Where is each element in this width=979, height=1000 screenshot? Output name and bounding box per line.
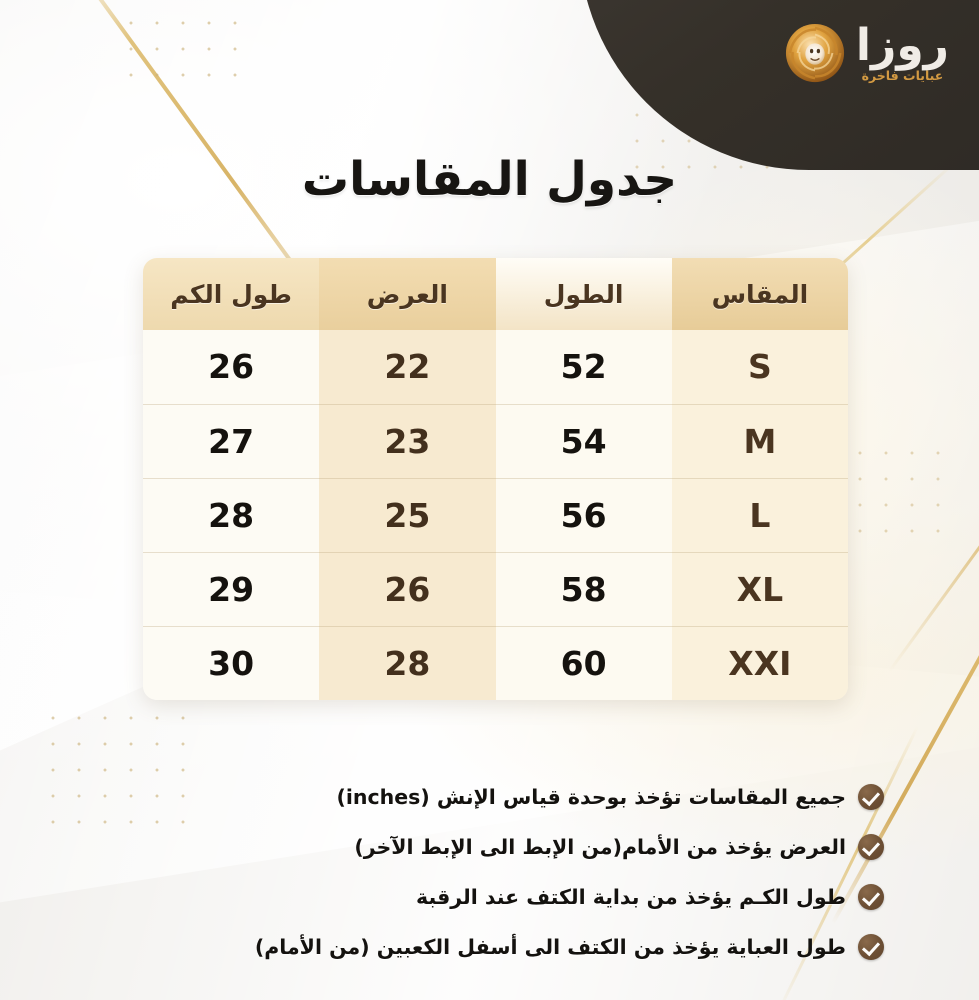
page-title: جدول المقاسات bbox=[0, 152, 979, 207]
size-table-body: S 52 22 26 M 54 23 27 L 56 25 28 bbox=[143, 330, 848, 700]
table-row: S 52 22 26 bbox=[143, 330, 848, 404]
note-text: العرض يؤخذ من الأمام(من الإبط الى الإبط … bbox=[354, 835, 846, 859]
note-item: طول الكـم يؤخذ من بداية الكتف عند الرقبة bbox=[60, 872, 884, 922]
check-circle-icon bbox=[858, 934, 884, 960]
cell-sleeve: 28 bbox=[143, 478, 319, 552]
check-circle-icon bbox=[858, 784, 884, 810]
note-text: طول الكـم يؤخذ من بداية الكتف عند الرقبة bbox=[416, 885, 846, 909]
cell-width: 26 bbox=[319, 552, 495, 626]
measurement-notes-list: جميع المقاسات تؤخذ بوحدة قياس الإنش (inc… bbox=[60, 772, 884, 972]
cell-size: XXI bbox=[672, 626, 848, 700]
brand-logo: روزا عبايات فاخرة bbox=[784, 22, 949, 84]
column-header-width: العرض bbox=[319, 258, 495, 330]
dot-grid-right bbox=[847, 440, 957, 536]
cell-width: 28 bbox=[319, 626, 495, 700]
note-item: العرض يؤخذ من الأمام(من الإبط الى الإبط … bbox=[60, 822, 884, 872]
brand-tagline: عبايات فاخرة bbox=[856, 70, 949, 83]
cell-length: 58 bbox=[496, 552, 672, 626]
check-circle-icon bbox=[858, 884, 884, 910]
cell-length: 52 bbox=[496, 330, 672, 404]
brand-logo-text: روزا عبايات فاخرة bbox=[856, 24, 949, 83]
rose-swirl-icon bbox=[784, 22, 846, 84]
size-table-card: المقاس الطول العرض طول الكم S 52 22 26 M… bbox=[143, 258, 848, 700]
size-table: المقاس الطول العرض طول الكم S 52 22 26 M… bbox=[143, 258, 848, 700]
cell-sleeve: 27 bbox=[143, 404, 319, 478]
column-header-size: المقاس bbox=[672, 258, 848, 330]
table-row: M 54 23 27 bbox=[143, 404, 848, 478]
note-item: طول العباية يؤخذ من الكتف الى أسفل الكعب… bbox=[60, 922, 884, 972]
table-row: XXI 60 28 30 bbox=[143, 626, 848, 700]
cell-size: L bbox=[672, 478, 848, 552]
cell-length: 60 bbox=[496, 626, 672, 700]
check-circle-icon bbox=[858, 834, 884, 860]
cell-length: 54 bbox=[496, 404, 672, 478]
cell-sleeve: 29 bbox=[143, 552, 319, 626]
gold-diagonal-line-right-upper bbox=[888, 428, 979, 672]
cell-sleeve: 30 bbox=[143, 626, 319, 700]
table-header-row: المقاس الطول العرض طول الكم bbox=[143, 258, 848, 330]
cell-size: XL bbox=[672, 552, 848, 626]
note-text: جميع المقاسات تؤخذ بوحدة قياس الإنش (inc… bbox=[337, 785, 847, 809]
cell-sleeve: 26 bbox=[143, 330, 319, 404]
column-header-sleeve: طول الكم bbox=[143, 258, 319, 330]
cell-size: S bbox=[672, 330, 848, 404]
size-chart-poster: روزا عبايات فاخرة bbox=[0, 0, 979, 1000]
table-row: L 56 25 28 bbox=[143, 478, 848, 552]
note-text: طول العباية يؤخذ من الكتف الى أسفل الكعب… bbox=[255, 935, 846, 959]
note-item: جميع المقاسات تؤخذ بوحدة قياس الإنش (inc… bbox=[60, 772, 884, 822]
column-header-length: الطول bbox=[496, 258, 672, 330]
cell-width: 25 bbox=[319, 478, 495, 552]
table-row: XL 58 26 29 bbox=[143, 552, 848, 626]
cell-length: 56 bbox=[496, 478, 672, 552]
cell-width: 23 bbox=[319, 404, 495, 478]
brand-name: روزا bbox=[856, 24, 949, 68]
cell-width: 22 bbox=[319, 330, 495, 404]
cell-size: M bbox=[672, 404, 848, 478]
dot-grid-top-left bbox=[118, 10, 238, 78]
size-table-header: المقاس الطول العرض طول الكم bbox=[143, 258, 848, 330]
